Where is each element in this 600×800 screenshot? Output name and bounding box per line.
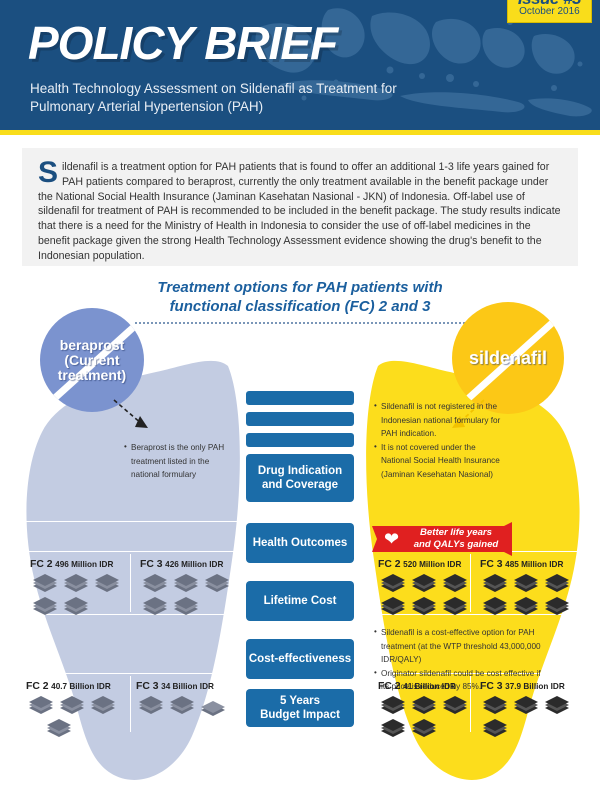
money-stack-group xyxy=(140,573,240,618)
ribbon-line1: Better life years xyxy=(420,527,492,538)
pill-beraprost-label: beraprost (Current treatment) xyxy=(40,308,144,412)
money-stack-group xyxy=(378,695,478,740)
note-ce-item-0: Sildenafil is a cost-effective option fo… xyxy=(374,626,544,667)
lung-cell-divider-left-budget xyxy=(130,676,131,732)
pill-sildenafil-line1: sildenafil xyxy=(469,351,547,366)
pill-beraprost: beraprost (Current treatment) xyxy=(40,308,144,412)
lung-cell-divider-left-cost xyxy=(130,554,131,612)
criteria-budget-line2: Budget Impact xyxy=(260,709,340,721)
criteria-column: Drug Indication and Coverage Health Outc… xyxy=(246,391,354,502)
pill-beraprost-line3: treatment) xyxy=(58,368,126,383)
arrow-beraprost-to-lung xyxy=(112,398,162,436)
money-stack-group xyxy=(480,573,580,618)
money-stack-icon xyxy=(409,596,439,618)
money-stack-icon xyxy=(378,596,408,618)
summary-text: ildenafil is a treatment option for PAH … xyxy=(38,161,561,262)
money-stack-icon xyxy=(61,573,91,595)
issue-date: October 2016 xyxy=(518,5,581,18)
fc-label: FC 2 xyxy=(378,681,401,692)
criteria-bar-2 xyxy=(246,412,354,426)
cost-cell-left-budget-fc3: FC 3 34 Billion IDR xyxy=(136,680,236,717)
money-stack-icon xyxy=(378,573,408,595)
cost-header-left-budget-fc3: FC 3 34 Billion IDR xyxy=(136,680,236,692)
criteria-cost-effectiveness[interactable]: Cost-effectiveness xyxy=(246,639,354,679)
fc-amount: 40.7 Billion IDR xyxy=(51,682,111,691)
lung-divider-left-4 xyxy=(16,673,254,674)
pill-beraprost-line1: beraprost xyxy=(60,338,125,353)
cost-cell-right-budget-fc2: FC 2 41 Billion IDR xyxy=(378,680,478,740)
page-subtitle: Health Technology Assessment on Sildenaf… xyxy=(30,80,460,116)
cost-header-left-lifetime-fc2: FC 2 496 Million IDR xyxy=(30,558,130,570)
fc-label: FC 3 xyxy=(140,559,163,570)
better-outcomes-ribbon: ❤ Better life years and QALYs gained xyxy=(372,522,512,556)
money-stack-icon xyxy=(480,596,510,618)
fc-amount: 34 Billion IDR xyxy=(161,682,214,691)
note-beraprost-formulary: Beraprost is the only PAH treatment list… xyxy=(124,441,240,482)
money-stack-icon xyxy=(136,695,166,717)
note-sildenafil-item-0: Sildenafil is not registered in the Indo… xyxy=(374,400,504,441)
cost-header-right-lifetime-fc3: FC 3 485 Million IDR xyxy=(480,558,580,570)
money-stack-group xyxy=(30,573,130,618)
fc-label: FC 2 xyxy=(30,559,53,570)
criteria-budget-impact[interactable]: 5 Years Budget Impact xyxy=(246,689,354,727)
cost-cell-right-budget-fc3: FC 3 37.9 Billion IDR xyxy=(480,680,580,740)
note-sildenafil-item-1: It is not covered under the National Soc… xyxy=(374,441,504,482)
issue-badge: Issue #3 October 2016 xyxy=(507,0,592,23)
criteria-lifetime-cost[interactable]: Lifetime Cost xyxy=(246,581,354,621)
money-stack-icon xyxy=(202,573,232,595)
note-sildenafil-coverage: Sildenafil is not registered in the Indo… xyxy=(374,400,504,481)
cost-cell-right-lifetime-fc2: FC 2 520 Million IDR xyxy=(378,558,478,618)
money-stack-icon xyxy=(378,695,408,717)
cost-header-left-lifetime-fc3: FC 3 426 Million IDR xyxy=(140,558,240,570)
money-stack-icon xyxy=(480,695,510,717)
money-stack-icon xyxy=(26,695,56,717)
diagram-title-line1: Treatment options for PAH patients with xyxy=(157,279,442,296)
money-stack-icon xyxy=(171,596,201,618)
cost-header-right-budget-fc2: FC 2 41 Billion IDR xyxy=(378,680,478,692)
money-stack-icon xyxy=(44,718,74,740)
money-stack-icon xyxy=(171,573,201,595)
criteria-health-outcomes[interactable]: Health Outcomes xyxy=(246,523,354,563)
fc-amount: 520 Million IDR xyxy=(403,560,461,569)
cost-cell-left-lifetime-fc3: FC 3 426 Million IDR xyxy=(140,558,240,618)
criteria-drug-line1: Drug Indication xyxy=(258,465,342,477)
criteria-bar-1 xyxy=(246,391,354,405)
money-stack-icon xyxy=(57,695,87,717)
criteria-drug-indication[interactable]: Drug Indication and Coverage xyxy=(246,454,354,502)
fc-amount: 496 Million IDR xyxy=(55,560,113,569)
money-stack-icon xyxy=(92,573,122,595)
money-stack-icon xyxy=(140,596,170,618)
fc-amount: 485 Million IDR xyxy=(505,560,563,569)
heart-icon: ❤ xyxy=(384,531,401,548)
money-stack-icon xyxy=(140,573,170,595)
money-stack-icon xyxy=(480,718,510,740)
money-stack-icon xyxy=(440,695,470,717)
money-stack-icon xyxy=(409,718,439,740)
money-stack-icon xyxy=(542,596,572,618)
money-stack-icon xyxy=(61,596,91,618)
note-beraprost-item-0: Beraprost is the only PAH treatment list… xyxy=(124,441,240,482)
cost-header-left-budget-fc2: FC 2 40.7 Billion IDR xyxy=(26,680,126,692)
diagram-title-line2: functional classification (FC) 2 and 3 xyxy=(170,298,431,315)
money-stack-group xyxy=(480,695,580,740)
cost-header-right-budget-fc3: FC 3 37.9 Billion IDR xyxy=(480,680,580,692)
diagram-title: Treatment options for PAH patients with … xyxy=(130,278,470,316)
criteria-budget-line1: 5 Years xyxy=(280,695,320,707)
criteria-bar-3 xyxy=(246,433,354,447)
summary-panel: Sildenafil is a treatment option for PAH… xyxy=(22,148,578,266)
money-stack-icon xyxy=(440,573,470,595)
fc-label: FC 3 xyxy=(480,559,503,570)
money-stack-icon xyxy=(198,695,228,717)
money-stack-icon xyxy=(88,695,118,717)
fc-label: FC 2 xyxy=(26,681,49,692)
money-stack-icon xyxy=(409,573,439,595)
header-yellow-rule xyxy=(0,130,600,135)
money-stack-icon xyxy=(480,573,510,595)
page-title: POLICY BRIEF xyxy=(28,16,337,70)
cost-cell-left-budget-fc2: FC 2 40.7 Billion IDR xyxy=(26,680,126,740)
page-header: Issue #3 October 2016 POLICY BRIEF Healt… xyxy=(0,0,600,130)
diagram-title-divider xyxy=(135,322,465,324)
fc-amount: 37.9 Billion IDR xyxy=(505,682,565,691)
fc-label: FC 2 xyxy=(378,559,401,570)
criteria-drug-line2: and Coverage xyxy=(262,479,338,491)
money-stack-icon xyxy=(378,718,408,740)
lung-divider-left-1 xyxy=(16,521,254,522)
fc-label: FC 3 xyxy=(136,681,159,692)
pill-beraprost-line2: (Current xyxy=(64,353,119,368)
cost-cell-right-lifetime-fc3: FC 3 485 Million IDR xyxy=(480,558,580,618)
fc-amount: 41 Billion IDR xyxy=(403,682,456,691)
money-stack-icon xyxy=(511,695,541,717)
money-stack-icon xyxy=(511,596,541,618)
money-stack-group xyxy=(136,695,236,717)
fc-amount: 426 Million IDR xyxy=(165,560,223,569)
money-stack-icon xyxy=(409,695,439,717)
money-stack-icon xyxy=(440,596,470,618)
cost-cell-left-lifetime-fc2: FC 2 496 Million IDR xyxy=(30,558,130,618)
cost-header-right-lifetime-fc2: FC 2 520 Million IDR xyxy=(378,558,478,570)
money-stack-icon xyxy=(167,695,197,717)
money-stack-group xyxy=(378,573,478,618)
money-stack-icon xyxy=(30,596,60,618)
money-stack-icon xyxy=(542,695,572,717)
ribbon-text: Better life years and QALYs gained xyxy=(406,527,512,551)
fc-label: FC 3 xyxy=(480,681,503,692)
summary-dropcap: S xyxy=(38,160,62,186)
lung-divider-left-2 xyxy=(16,551,254,552)
ribbon-line2: and QALYs gained xyxy=(414,539,499,550)
money-stack-icon xyxy=(30,573,60,595)
money-stack-icon xyxy=(511,573,541,595)
money-stack-group xyxy=(26,695,126,740)
money-stack-icon xyxy=(542,573,572,595)
